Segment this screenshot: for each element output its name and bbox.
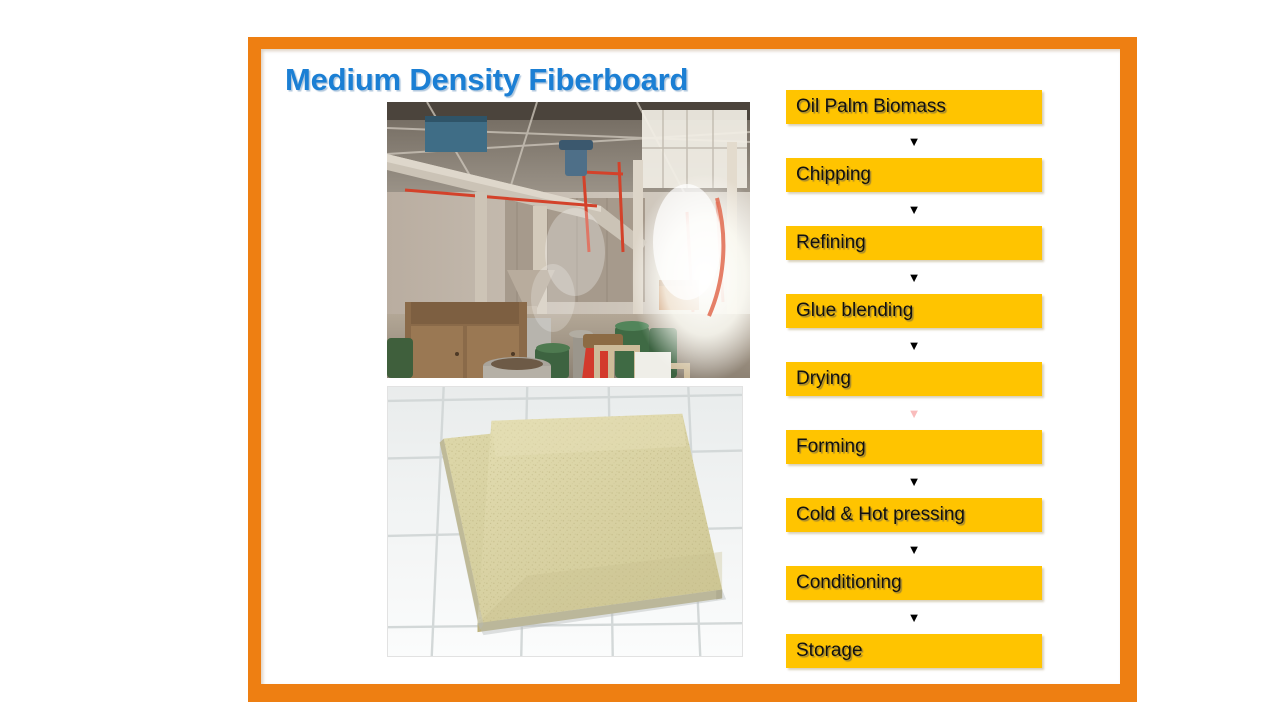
flow-step-cold-and-hot-pressing[interactable]: Cold & Hot pressing: [786, 498, 1042, 532]
flow-step-label: Storage: [796, 640, 863, 662]
flow-step-chipping[interactable]: Chipping: [786, 158, 1042, 192]
flow-arrow-1: ▼: [786, 124, 1042, 158]
flow-step-conditioning[interactable]: Conditioning: [786, 566, 1042, 600]
page-title: Medium Density Fiberboard: [285, 62, 688, 98]
flow-step-drying[interactable]: Drying: [786, 362, 1042, 396]
flow-arrow-4: ▼: [786, 328, 1042, 362]
flow-step-forming[interactable]: Forming: [786, 430, 1042, 464]
flow-step-label: Oil Palm Biomass: [796, 96, 946, 118]
flow-step-label: Forming: [796, 436, 866, 458]
orange-frame: Medium Density Fiberboard: [248, 37, 1137, 702]
process-flowchart: Oil Palm Biomass ▼ Chipping ▼ Refining ▼…: [786, 90, 1042, 668]
flow-arrow-3: ▼: [786, 260, 1042, 294]
factory-photo-graphic: [387, 102, 750, 378]
flow-step-glue-blending[interactable]: Glue blending: [786, 294, 1042, 328]
flow-step-refining[interactable]: Refining: [786, 226, 1042, 260]
slide-content-area: Medium Density Fiberboard: [261, 49, 1120, 684]
flow-step-label: Conditioning: [796, 572, 902, 594]
flow-arrow-5: ▼: [786, 396, 1042, 430]
fiberboard-panels-photo: [387, 386, 743, 657]
factory-photo: [387, 102, 750, 378]
flow-step-label: Drying: [796, 368, 851, 390]
flow-arrow-7: ▼: [786, 532, 1042, 566]
flow-step-label: Refining: [796, 232, 866, 254]
flow-arrow-8: ▼: [786, 600, 1042, 634]
flow-arrow-2: ▼: [786, 192, 1042, 226]
flow-step-label: Cold & Hot pressing: [796, 504, 965, 526]
flow-step-label: Glue blending: [796, 300, 913, 322]
flow-step-oil-palm-biomass[interactable]: Oil Palm Biomass: [786, 90, 1042, 124]
flow-step-storage[interactable]: Storage: [786, 634, 1042, 668]
flow-arrow-6: ▼: [786, 464, 1042, 498]
slide-canvas: Medium Density Fiberboard: [0, 0, 1280, 720]
fiberboard-panels-graphic: [388, 387, 742, 656]
flow-step-label: Chipping: [796, 164, 871, 186]
